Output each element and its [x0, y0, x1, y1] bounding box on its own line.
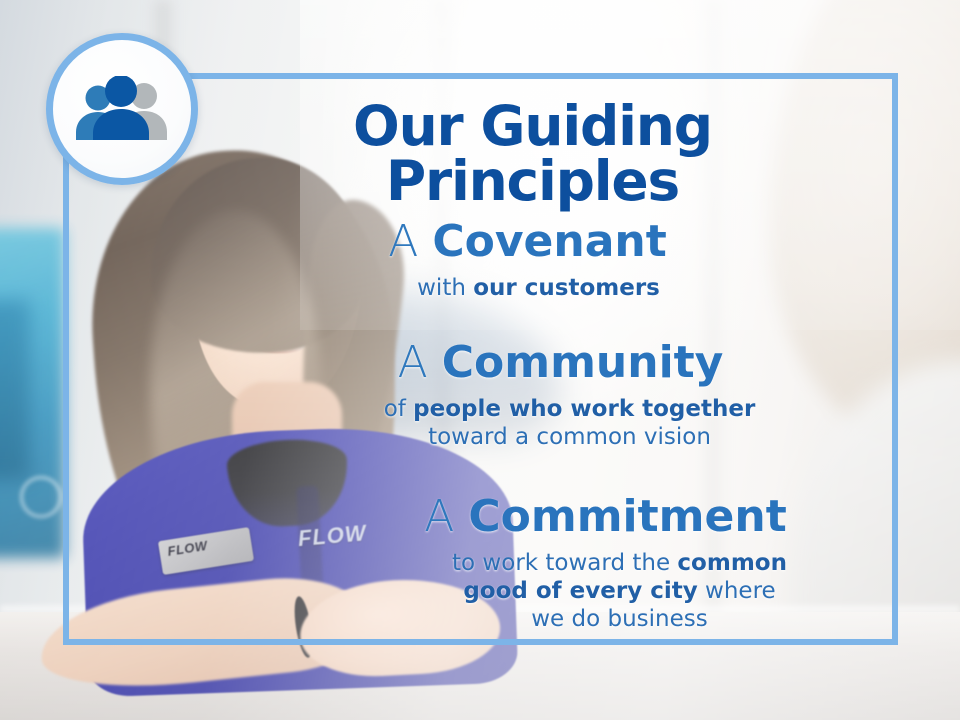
subtitle-text: with	[417, 275, 473, 301]
principle-noun: Covenant	[432, 216, 666, 267]
principle-noun: Commitment	[468, 491, 786, 542]
principle-subtitle: to work toward the common good of every …	[349, 549, 862, 633]
principle-article: A	[424, 491, 468, 542]
subtitle-line: of people who work together	[277, 395, 862, 423]
subtitle-line: we do business	[377, 605, 862, 633]
subtitle-text-strong: our customers	[473, 275, 660, 301]
principle-covenant: A Covenant with our customers	[63, 219, 862, 302]
principle-title: A Covenant	[193, 219, 862, 265]
subtitle-text-strong: good of every city	[463, 578, 697, 604]
subtitle-text-strong: people who work together	[413, 396, 755, 422]
subtitle-text: to work toward the	[452, 550, 677, 576]
principle-subtitle: of people who work together toward a com…	[259, 395, 862, 451]
subtitle-line: toward a common vision	[277, 423, 862, 451]
principle-article: A	[388, 216, 432, 267]
guiding-principles-poster: FLOW FLOW Our Guiding Principles	[0, 0, 960, 720]
page-title: Our Guiding Principles	[63, 99, 862, 209]
subtitle-text: of	[384, 396, 413, 422]
principle-community: A Community of people who work together …	[63, 340, 862, 451]
subtitle-text: we do business	[531, 606, 708, 632]
subtitle-line: with our customers	[215, 274, 862, 302]
principle-noun: Community	[442, 337, 724, 388]
subtitle-line: good of every city where	[377, 577, 862, 605]
subtitle-text: where	[698, 578, 776, 604]
principle-subtitle: with our customers	[193, 274, 862, 302]
principle-commitment: A Commitment to work toward the common g…	[63, 494, 862, 633]
poster-content: Our Guiding Principles A Covenant with o…	[63, 73, 898, 645]
principle-article: A	[398, 337, 442, 388]
principle-title: A Community	[259, 340, 862, 386]
subtitle-line: to work toward the common	[377, 549, 862, 577]
subtitle-text: toward a common vision	[428, 424, 711, 450]
principle-title: A Commitment	[349, 494, 862, 540]
subtitle-text-strong: common	[677, 550, 787, 576]
